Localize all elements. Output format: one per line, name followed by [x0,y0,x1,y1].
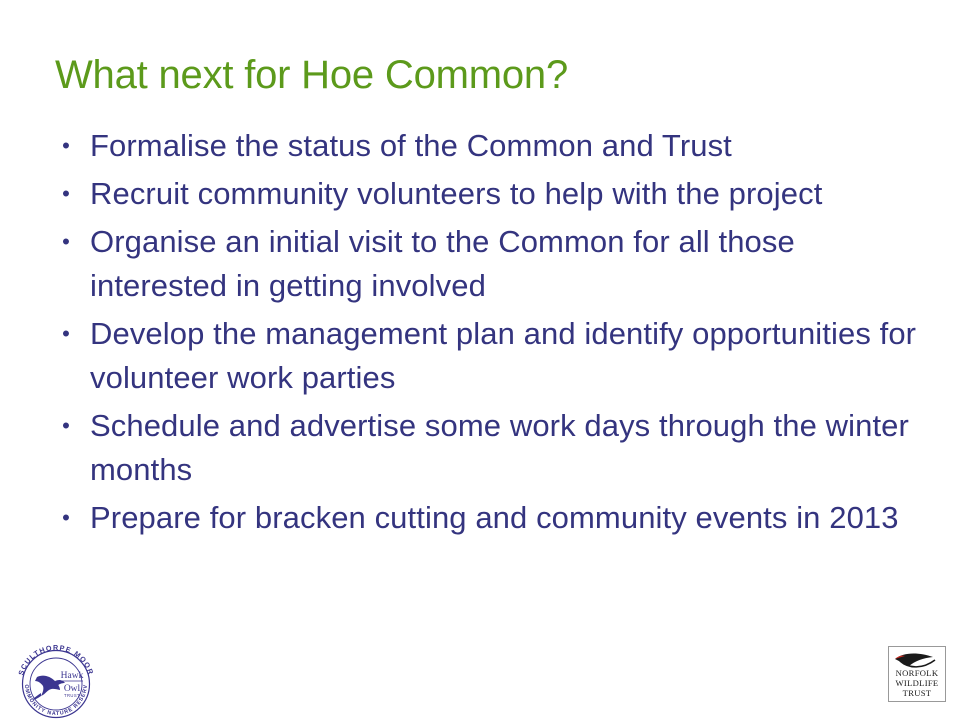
bullet-list: • Formalise the status of the Common and… [48,124,928,544]
bullet-text: Formalise the status of the Common and T… [90,124,928,168]
bullet-text: Recruit community volunteers to help wit… [90,172,928,216]
norfolk-wildlife-trust-logo: NORFOLK WILDLIFE TRUST [888,646,946,702]
logo-center-line-3: TRUST [64,693,80,698]
bullet-item: • Develop the management plan and identi… [48,312,928,400]
logo-center-line-1: Hawk [61,671,84,681]
sculthorpe-moor-logo: SCULTHORPE MOOR COMMUNITY NATURE RESERVE… [10,644,106,720]
bullet-item: • Prepare for bracken cutting and commun… [48,496,928,540]
bullet-marker-icon: • [56,172,76,216]
bullet-marker-icon: • [56,404,76,448]
bullet-item: • Formalise the status of the Common and… [48,124,928,168]
nwt-line-1: NORFOLK [896,668,939,678]
bullet-marker-icon: • [56,312,76,356]
bullet-text: Organise an initial visit to the Common … [90,220,928,308]
bullet-item: • Schedule and advertise some work days … [48,404,928,492]
bullet-marker-icon: • [56,496,76,540]
bullet-text: Schedule and advertise some work days th… [90,404,928,492]
presentation-slide: What next for Hoe Common? • Formalise th… [0,0,960,720]
bullet-marker-icon: • [56,124,76,168]
bullet-marker-icon: • [56,220,76,264]
logo-arc-top-text: SCULTHORPE MOOR [16,644,95,676]
nwt-line-2: WILDLIFE [896,678,939,688]
bullet-text: Develop the management plan and identify… [90,312,928,400]
nwt-line-3: TRUST [903,688,932,698]
slide-title: What next for Hoe Common? [55,52,915,98]
bullet-item: • Recruit community volunteers to help w… [48,172,928,216]
bullet-item: • Organise an initial visit to the Commo… [48,220,928,308]
bullet-text: Prepare for bracken cutting and communit… [90,496,928,540]
swan-icon [895,653,935,666]
